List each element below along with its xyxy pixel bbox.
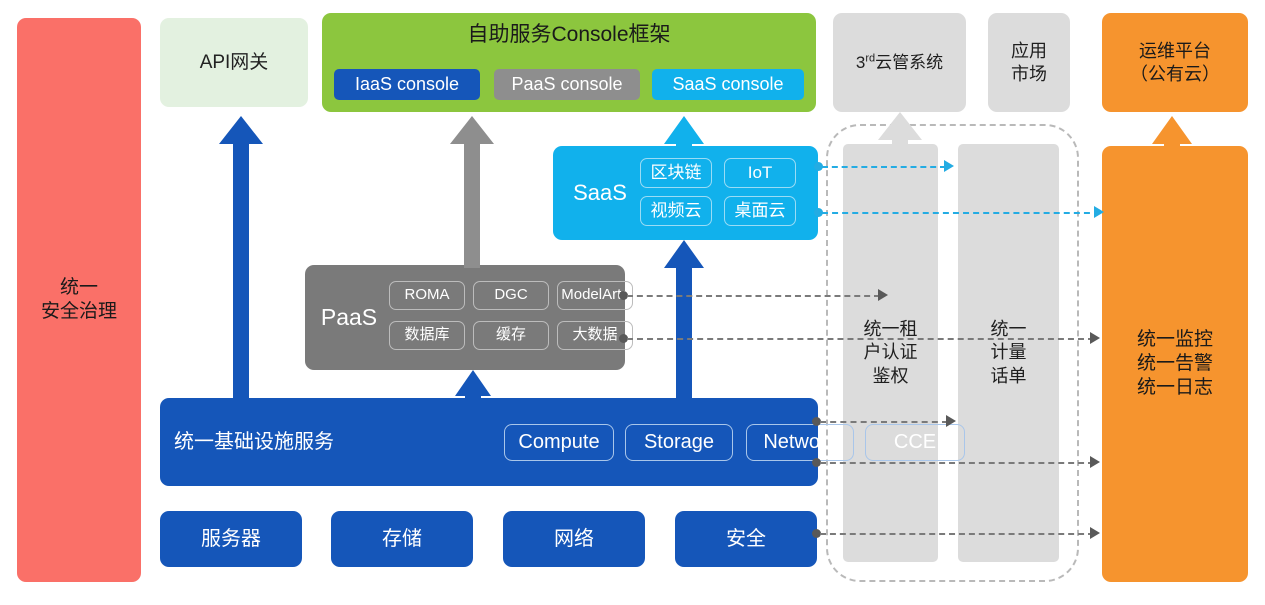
arrow-ops-body-to-ops-top xyxy=(1148,114,1196,152)
hardware-server-block[interactable]: 服务器 xyxy=(160,511,302,567)
arrowhead-saas-to-auth xyxy=(944,160,954,172)
governance-label-line2: 安全治理 xyxy=(41,300,117,324)
third-party-prefix: 3 xyxy=(856,53,865,72)
paas-layer-label: PaaS xyxy=(313,265,385,370)
auth-label-line2: 户认证 xyxy=(864,341,918,364)
unified-security-governance-block: 统一 安全治理 xyxy=(17,18,141,582)
saas-service-video-cloud[interactable]: 视频云 xyxy=(640,196,712,226)
paas-layer-block: PaaS ROMA DGC ModelArts 数据库 缓存 大数据 xyxy=(305,265,625,370)
third-party-cloud-mgmt-label: 3rd云管系统 xyxy=(856,52,943,73)
arrowhead-saas-to-ops xyxy=(1094,206,1104,218)
console-framework-title: 自助服务Console框架 xyxy=(322,22,816,48)
dashed-infra-to-auth xyxy=(820,421,948,423)
paas-service-cache[interactable]: 缓存 xyxy=(473,321,549,350)
saas-console-chip[interactable]: SaaS console xyxy=(652,69,804,100)
infra-service-cce[interactable]: CCE xyxy=(865,424,965,461)
governance-label-line1: 统一 xyxy=(41,276,117,300)
unified-infrastructure-block: 统一基础设施服务 Compute Storage Network CCE xyxy=(160,398,818,486)
app-market-label-line1: 应用 xyxy=(1011,40,1047,63)
app-market-label-line2: 市场 xyxy=(1011,63,1047,86)
arrowhead-infra-to-ops xyxy=(1090,456,1100,468)
paas-service-roma[interactable]: ROMA xyxy=(389,281,465,310)
meter-label-line3: 话单 xyxy=(991,365,1027,388)
third-party-suffix: 云管系统 xyxy=(875,53,943,72)
ops-body-line1: 统一监控 xyxy=(1137,328,1213,352)
dashed-saas-to-ops xyxy=(822,212,1100,214)
architecture-diagram: 统一 安全治理 API网关 自助服务Console框架 IaaS console… xyxy=(0,0,1265,605)
infra-service-compute[interactable]: Compute xyxy=(504,424,614,461)
api-gateway-label: API网关 xyxy=(200,51,269,75)
paas-console-chip[interactable]: PaaS console xyxy=(494,69,640,100)
saas-service-desktop-cloud[interactable]: 桌面云 xyxy=(724,196,796,226)
ops-platform-label-line2: （公有云） xyxy=(1130,63,1220,86)
ops-platform-label-line1: 运维平台 xyxy=(1130,40,1220,63)
hardware-security-block[interactable]: 安全 xyxy=(675,511,817,567)
arrowhead-paas-to-auth xyxy=(878,289,888,301)
unified-metering-billing-column: 统一 计量 话单 xyxy=(958,144,1059,562)
dashed-hardware-to-ops xyxy=(820,533,1094,535)
infra-layer-label: 统一基础设施服务 xyxy=(174,398,334,486)
ops-platform-public-cloud-block: 运维平台 （公有云） xyxy=(1102,13,1248,112)
auth-label-line3: 鉴权 xyxy=(864,365,918,388)
console-framework-block: 自助服务Console框架 IaaS console PaaS console … xyxy=(322,13,816,112)
arrow-infra-to-api-gateway xyxy=(216,114,266,404)
arrowhead-infra-to-auth xyxy=(946,415,956,427)
saas-service-iot[interactable]: IoT xyxy=(724,158,796,188)
saas-layer-block: SaaS 区块链 IoT 视频云 桌面云 xyxy=(553,146,818,240)
hardware-network-block[interactable]: 网络 xyxy=(503,511,645,567)
meter-label-line2: 计量 xyxy=(991,341,1027,364)
app-market-block: 应用 市场 xyxy=(988,13,1070,112)
saas-layer-label: SaaS xyxy=(563,146,637,240)
dashed-infra-to-ops xyxy=(820,462,1094,464)
dashed-saas-to-auth xyxy=(822,166,946,168)
infra-service-storage[interactable]: Storage xyxy=(625,424,733,461)
ops-body-line3: 统一日志 xyxy=(1137,376,1213,400)
unified-tenant-auth-column: 统一租 户认证 鉴权 xyxy=(843,144,938,562)
paas-service-database[interactable]: 数据库 xyxy=(389,321,465,350)
dashed-paas-to-auth xyxy=(627,295,880,297)
arrow-infra-to-saas xyxy=(661,238,707,402)
infra-service-network[interactable]: Network xyxy=(746,424,854,461)
paas-service-dgc[interactable]: DGC xyxy=(473,281,549,310)
dashed-paas-to-ops xyxy=(627,338,1094,340)
ops-body-line2: 统一告警 xyxy=(1137,352,1213,376)
iaas-console-chip[interactable]: IaaS console xyxy=(334,69,480,100)
ops-monitoring-alarm-log-block: 统一监控 统一告警 统一日志 xyxy=(1102,146,1248,582)
arrowhead-paas-to-ops xyxy=(1090,332,1100,344)
arrow-shared-to-third-party-cloud xyxy=(874,110,926,144)
saas-service-blockchain[interactable]: 区块链 xyxy=(640,158,712,188)
api-gateway-block: API网关 xyxy=(160,18,308,107)
third-party-ordinal-suffix: rd xyxy=(865,52,875,64)
arrowhead-hardware-to-ops xyxy=(1090,527,1100,539)
arrow-infra-to-paas xyxy=(452,368,494,404)
arrow-paas-to-console xyxy=(447,114,497,270)
third-party-cloud-mgmt-block: 3rd云管系统 xyxy=(833,13,966,112)
hardware-storage-block[interactable]: 存储 xyxy=(331,511,473,567)
arrow-saas-to-console xyxy=(661,114,707,152)
